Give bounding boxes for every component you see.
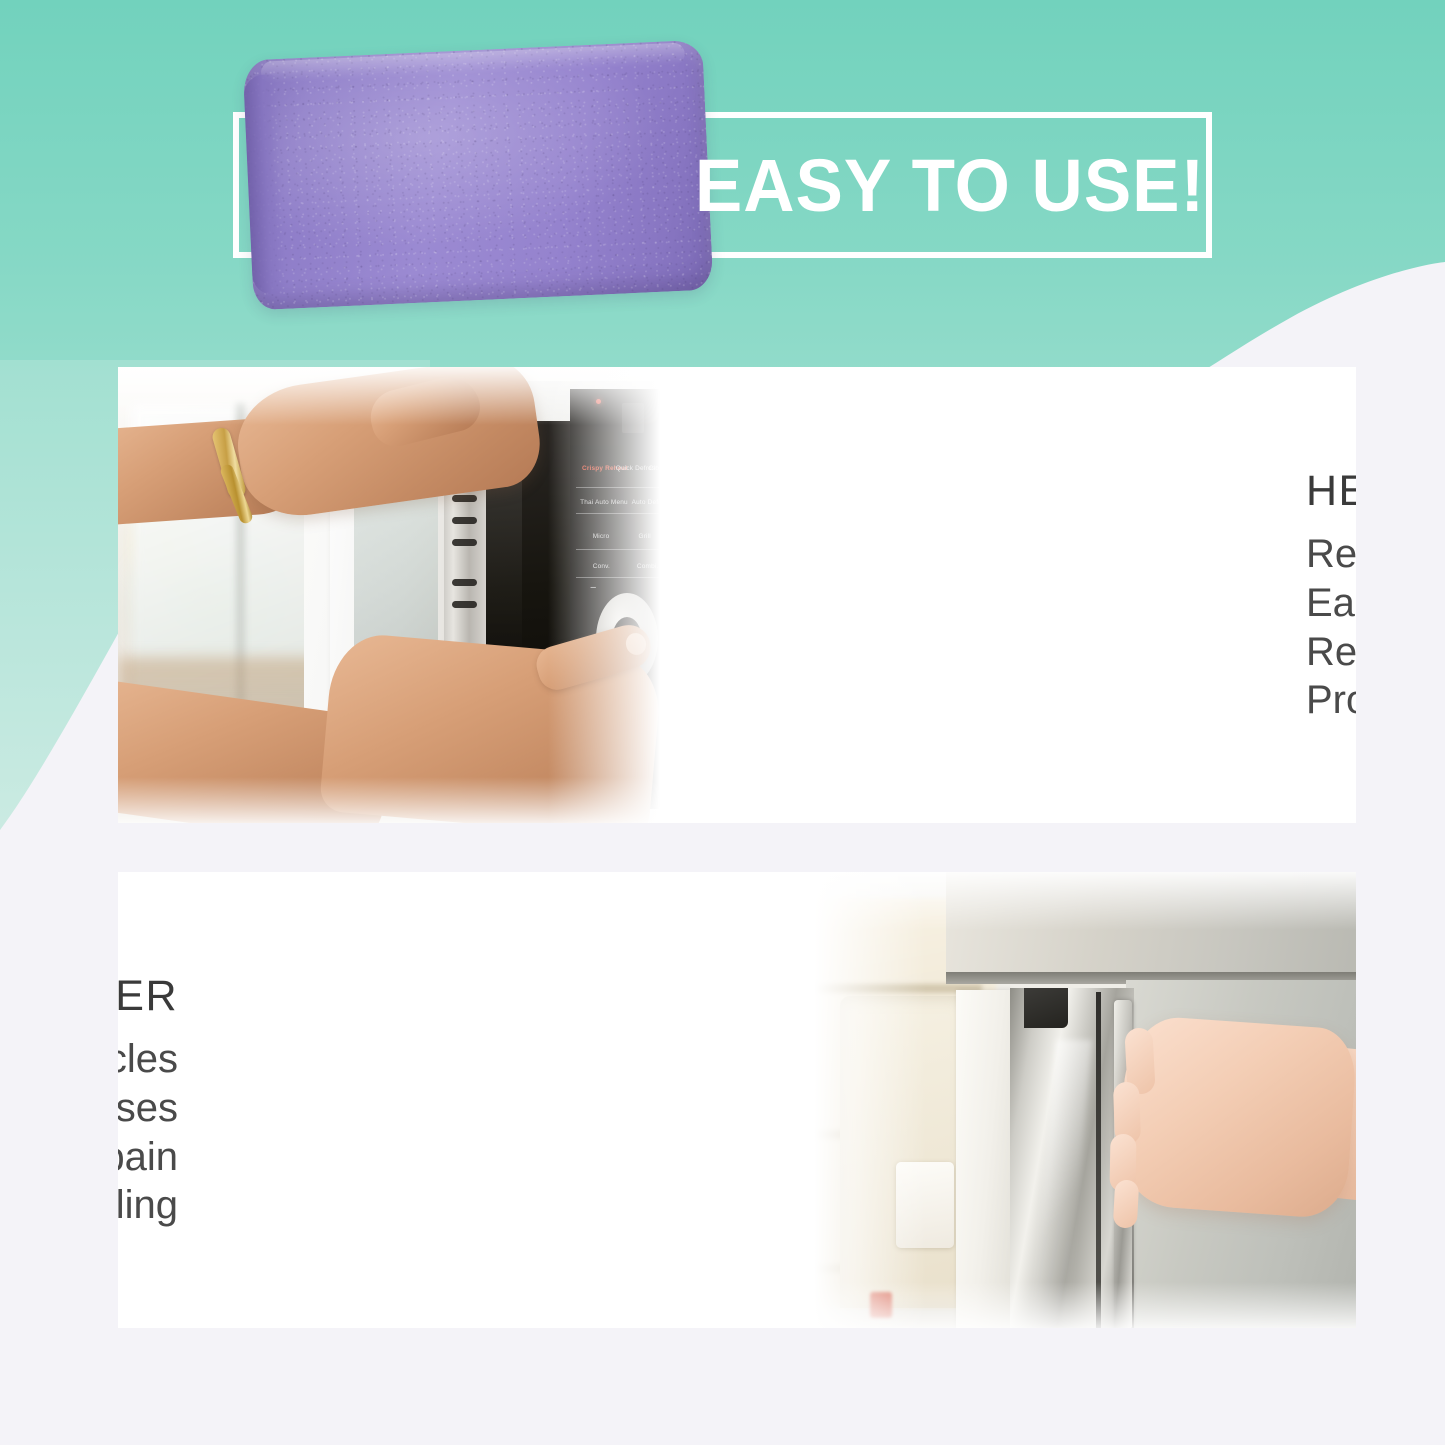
- microwave-text-block: HEAT IN THE MICROWAVE Relieve sore muscl…: [1306, 467, 1356, 725]
- list-item: Reduce stiffness: [1306, 628, 1356, 677]
- heating-pad-body: [243, 40, 714, 311]
- photo-fade-right: [548, 367, 678, 823]
- freezer-text-block: CHILL IN THE FREEZER Relieve injured mus…: [118, 972, 178, 1230]
- freezer-photo: [796, 872, 1356, 1328]
- microwave-vent-slot: [452, 539, 477, 546]
- list-item: Ease sprains & bruises: [118, 1084, 178, 1133]
- freezer-text-pane: CHILL IN THE FREEZER Relieve injured mus…: [118, 872, 796, 1328]
- microwave-vent-slot: [452, 495, 477, 502]
- freezer-finger: [1113, 1179, 1139, 1228]
- section-card-microwave: Crispy Reheat Quick Defrost Clock Thai A…: [118, 367, 1356, 823]
- fridge-handle-bracket: [1024, 988, 1068, 1028]
- freezer-heading: CHILL IN THE FREEZER: [118, 972, 178, 1021]
- microwave-text-pane: HEAT IN THE MICROWAVE Relieve sore muscl…: [678, 367, 1356, 823]
- fridge-door-white-panel: [956, 990, 1012, 1328]
- list-item: Relieve injured muscles: [118, 1035, 178, 1084]
- microwave-photo: Crispy Reheat Quick Defrost Clock Thai A…: [118, 367, 678, 823]
- page-title: EASY TO USE!: [710, 144, 1190, 228]
- microwave-benefit-list: Relieve sore muscles Ease joint pain Red…: [1306, 530, 1356, 725]
- list-item: Reduce swelling: [118, 1181, 178, 1230]
- product-heating-pad: [243, 40, 714, 311]
- microwave-vent-slot: [452, 601, 477, 608]
- freezer-benefit-list: Relieve injured muscles Ease sprains & b…: [118, 1035, 178, 1230]
- list-item: Relieve sore muscles: [1306, 530, 1356, 579]
- list-item: Promote relaxation: [1306, 676, 1356, 725]
- microwave-vent-slot: [452, 579, 477, 586]
- fridge-door-seam: [1096, 992, 1101, 1328]
- microwave-vent-slot: [452, 517, 477, 524]
- microwave-heading: HEAT IN THE MICROWAVE: [1306, 467, 1356, 516]
- infographic-canvas: EASY TO USE!: [0, 0, 1445, 1445]
- photo-fade-left: [796, 872, 926, 1328]
- list-item: Relieve joints & tendons pain: [118, 1133, 178, 1182]
- section-card-freezer: CHILL IN THE FREEZER Relieve injured mus…: [118, 872, 1356, 1328]
- list-item: Ease joint pain: [1306, 579, 1356, 628]
